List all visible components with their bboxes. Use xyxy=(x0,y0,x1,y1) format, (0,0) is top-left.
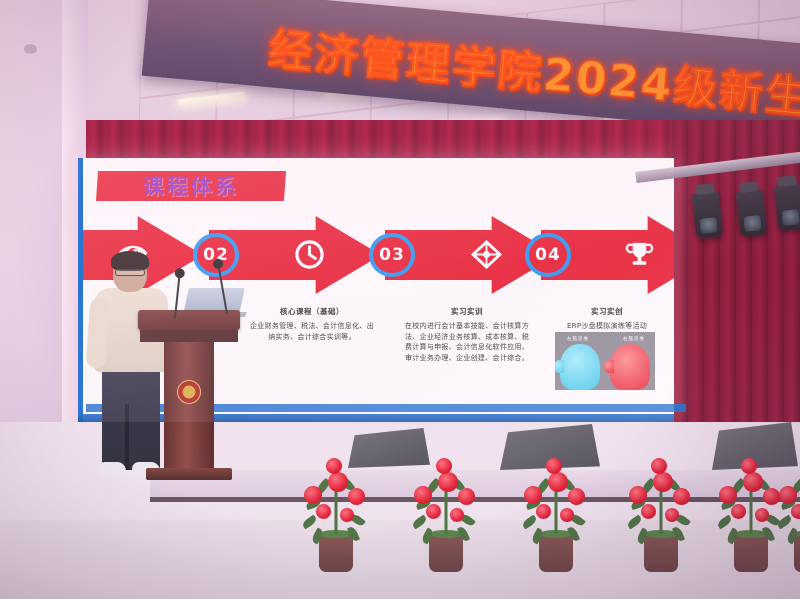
red-flower-bloom xyxy=(665,508,679,522)
flower-leaf xyxy=(411,515,428,530)
slide-column-innovation: 实习实创 ERP沙盘模拟演练等活动 xyxy=(545,306,669,332)
red-flower-bloom xyxy=(779,486,797,504)
flower-pot xyxy=(429,534,463,572)
potted-flower xyxy=(520,452,592,572)
step-number-ring: 03 xyxy=(369,233,415,277)
flower-leaf xyxy=(626,515,643,530)
potted-flower xyxy=(775,452,800,572)
red-flower-bloom xyxy=(436,458,452,474)
red-flower-bloom xyxy=(741,458,757,474)
moving-head-light xyxy=(774,183,800,232)
red-flower-bloom xyxy=(426,504,441,519)
column-heading: 实习实训 xyxy=(403,306,531,317)
column-body: 企业财务管理、税法、会计信息化、出纳实务、会计综合实训等。 xyxy=(249,321,375,342)
red-flower-bloom xyxy=(326,458,342,474)
clock-icon xyxy=(295,240,327,270)
presenter-leg-gap xyxy=(125,404,129,470)
school-crest-emblem xyxy=(177,380,201,404)
column-heading: 实习实创 xyxy=(545,306,669,317)
flower-pot xyxy=(644,534,678,572)
flower-pot xyxy=(539,534,573,572)
red-flower-bloom xyxy=(673,488,690,505)
step-number-label: 04 xyxy=(535,245,561,265)
red-flower-bloom xyxy=(731,504,746,519)
moving-head-light xyxy=(736,189,768,238)
red-flower-bloom xyxy=(791,504,800,519)
red-flower-bloom xyxy=(328,472,348,492)
left-brain-silhouette xyxy=(560,344,600,390)
red-flower-bloom xyxy=(438,472,458,492)
flower-pot xyxy=(734,534,768,572)
flower-leaf xyxy=(301,515,318,530)
potted-flower xyxy=(300,452,372,572)
red-flower-bloom xyxy=(546,458,562,474)
network-cube-icon xyxy=(471,240,503,270)
red-flower-bloom xyxy=(653,472,673,492)
presenter-hair xyxy=(111,251,149,271)
red-flower-bloom xyxy=(316,504,331,519)
auditorium-photo: 经济管理学院2024级新生入学 课程体系 01 xyxy=(0,0,800,599)
red-flower-bloom xyxy=(629,486,647,504)
red-flower-bloom xyxy=(560,508,574,522)
slide-title-banner: 课程体系 xyxy=(96,171,286,201)
potted-flower xyxy=(410,452,482,572)
moving-head-light xyxy=(692,191,724,240)
red-flower-bloom xyxy=(348,488,365,505)
flower-pot xyxy=(319,534,353,572)
red-flower-bloom xyxy=(641,504,656,519)
step-number-ring: 02 xyxy=(193,233,239,277)
presenter-shoe xyxy=(98,462,126,475)
potted-flower xyxy=(625,452,697,572)
thumbnail-label-left: 左脑思维 xyxy=(567,336,589,342)
podium-desktop xyxy=(138,310,240,330)
slide-column-core-courses: 核心课程（基础） 企业财务管理、税法、会计信息化、出纳实务、会计综合实训等。 xyxy=(249,306,375,342)
red-flower-bloom xyxy=(743,472,763,492)
slide-title-text: 课程体系 xyxy=(143,171,239,201)
slide-column-practical-training: 实习实训 在校内进行会计基本技能、会计核算方法、企业经济业务核算、成本核算、税费… xyxy=(403,306,531,363)
flower-leaf xyxy=(776,515,793,530)
podium-front-panel xyxy=(140,330,238,342)
thumbnail-label-right: 右脑思维 xyxy=(623,336,645,342)
red-flower-bloom xyxy=(536,504,551,519)
red-flower-bloom xyxy=(755,508,769,522)
red-flower-bloom xyxy=(719,486,737,504)
podium xyxy=(138,310,240,482)
right-brain-silhouette xyxy=(610,344,650,390)
slide-thumbnail-brain-graphic: 左脑思维 右脑思维 xyxy=(553,330,657,392)
column-body: 在校内进行会计基本技能、会计核算方法、企业经济业务核算、成本核算、税费计算与申报… xyxy=(403,321,531,363)
column-heading: 核心课程（基础） xyxy=(249,306,375,317)
podium-column xyxy=(164,342,214,472)
red-flower-bloom xyxy=(414,486,432,504)
step-number-ring: 04 xyxy=(525,233,571,277)
red-flower-bloom xyxy=(524,486,542,504)
wall-mark xyxy=(24,44,37,54)
red-flower-bloom xyxy=(651,458,667,474)
podium-base xyxy=(146,468,232,480)
red-flower-bloom xyxy=(340,508,354,522)
red-flower-bloom xyxy=(548,472,568,492)
step-number-label: 03 xyxy=(379,245,405,265)
flower-leaf xyxy=(716,515,733,530)
trophy-icon xyxy=(625,240,657,270)
red-flower-bloom xyxy=(304,486,322,504)
glasses-icon xyxy=(115,269,145,276)
red-flower-bloom xyxy=(458,488,475,505)
red-flower-bloom xyxy=(450,508,464,522)
red-flower-bloom xyxy=(568,488,585,505)
flower-leaf xyxy=(521,515,538,530)
